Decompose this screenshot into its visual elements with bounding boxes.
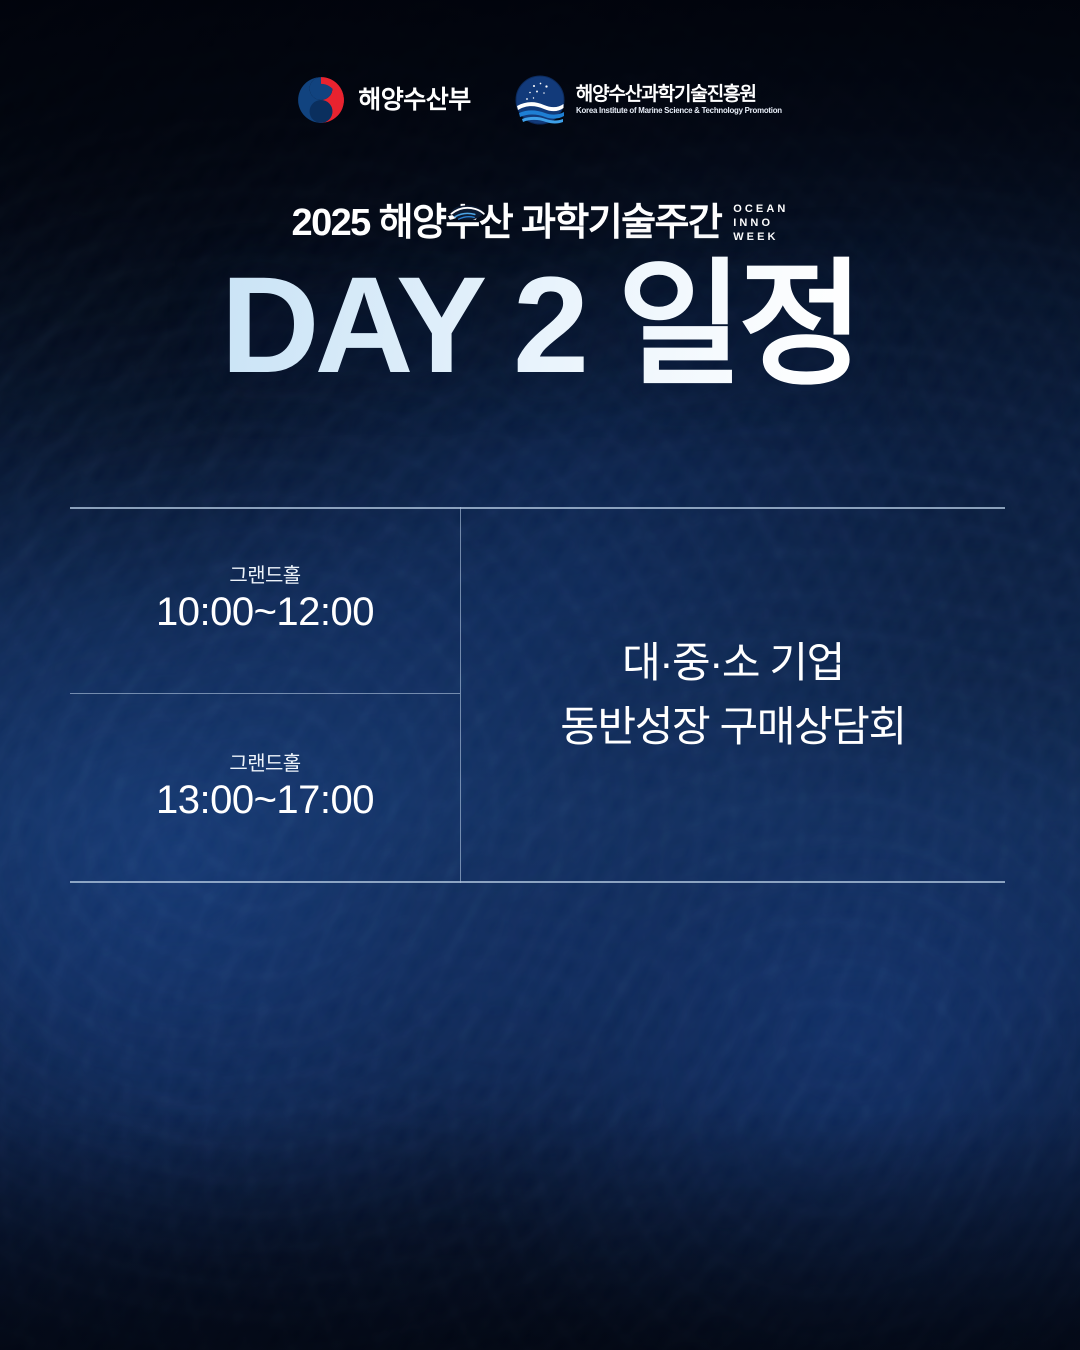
venue-label: 그랜드홀 <box>229 566 300 586</box>
program-title-line-1: 대·중·소 기업 <box>622 634 844 692</box>
institute-wordmark: 해양수산과학기술진흥원 Korea Institute of Marine Sc… <box>576 85 785 115</box>
brand-line-inno: INNO <box>733 218 788 229</box>
event-title-wrap: 2025 해양수산 과학기술주간 <box>292 200 722 242</box>
brand-stack: OCEAN INNO WEEK <box>733 200 788 243</box>
ministry-logo: 해양수산부 <box>295 74 471 126</box>
venue-label: 그랜드홀 <box>229 754 300 774</box>
event-title-row: 2025 해양수산 과학기술주간 OCEAN INNO WEEK <box>0 200 1080 243</box>
page-title: DAY 2 일정 <box>0 252 1080 400</box>
ministry-label: 해양수산부 <box>358 88 471 113</box>
table-row: 그랜드홀 10:00~12:00 <box>70 507 460 693</box>
poster-content: 해양수산부 <box>0 0 1080 1350</box>
poster-canvas: 해양수산부 <box>0 0 1080 1350</box>
institute-logo: 해양수산과학기술진흥원 Korea Institute of Marine Sc… <box>515 75 785 125</box>
brand-line-ocean: OCEAN <box>733 204 788 215</box>
event-title: 2025 해양수산 과학기술주간 <box>292 202 722 244</box>
table-row: 그랜드홀 13:00~17:00 <box>70 693 460 883</box>
program-title-line-2: 동반성장 구매상담회 <box>560 698 905 756</box>
logo-bar: 해양수산부 <box>0 74 1080 126</box>
schedule-program-column: 대·중·소 기업 동반성장 구매상담회 <box>461 507 1005 883</box>
brand-line-week: WEEK <box>733 232 788 243</box>
taegeuk-emblem <box>295 74 347 126</box>
institute-label-kr: 해양수산과학기술진흥원 <box>576 85 785 105</box>
schedule-table: 그랜드홀 10:00~12:00 그랜드홀 13:00~17:00 대·중·소 … <box>70 507 1005 883</box>
time-range: 10:00~12:00 <box>156 590 374 635</box>
kimst-emblem <box>515 75 565 125</box>
institute-label-en: Korea Institute of Marine Science & Tech… <box>576 107 782 115</box>
schedule-time-column: 그랜드홀 10:00~12:00 그랜드홀 13:00~17:00 <box>70 507 460 883</box>
time-range: 13:00~17:00 <box>156 778 374 823</box>
